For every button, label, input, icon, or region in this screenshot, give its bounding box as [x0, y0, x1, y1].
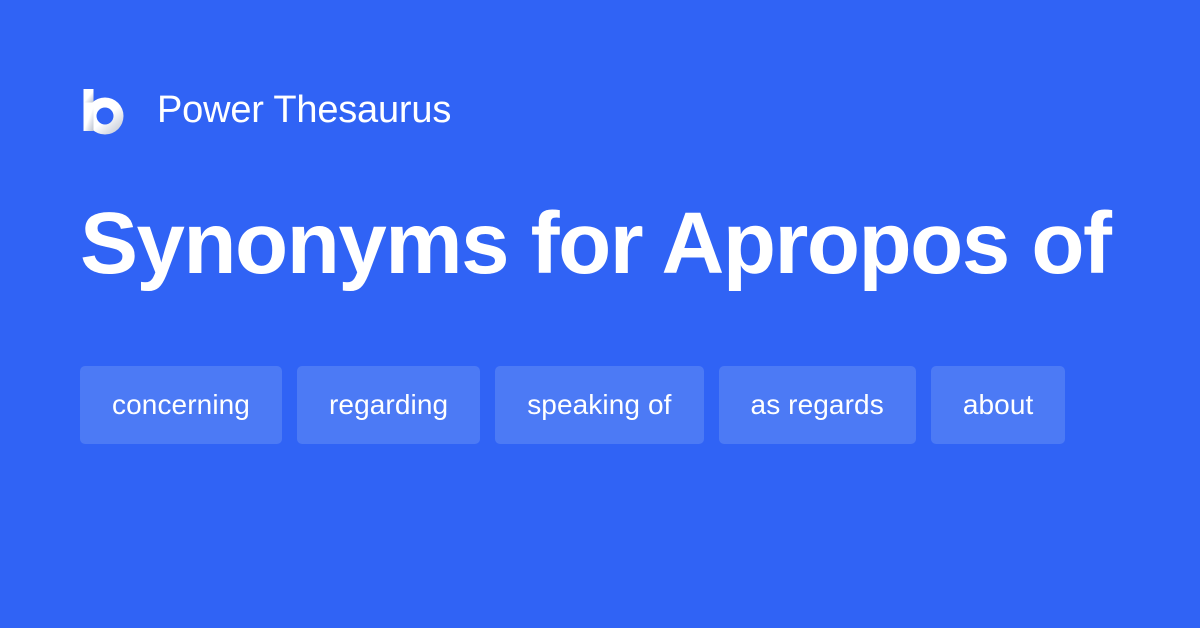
synonym-chip[interactable]: as regards — [719, 366, 916, 444]
synonym-chip[interactable]: speaking of — [495, 366, 703, 444]
brand-name: Power Thesaurus — [157, 91, 451, 129]
og-card: Power Thesaurus Synonyms for Apropos of … — [0, 0, 1200, 628]
synonym-chip[interactable]: concerning — [80, 366, 282, 444]
power-thesaurus-b-logo-icon — [80, 85, 130, 135]
synonym-chip[interactable]: regarding — [297, 366, 480, 444]
synonym-chip[interactable]: about — [931, 366, 1066, 444]
page-title: Synonyms for Apropos of — [80, 196, 1120, 292]
synonym-chip-list: concerning regarding speaking of as rega… — [80, 366, 1120, 444]
brand-lockup[interactable]: Power Thesaurus — [80, 82, 451, 138]
